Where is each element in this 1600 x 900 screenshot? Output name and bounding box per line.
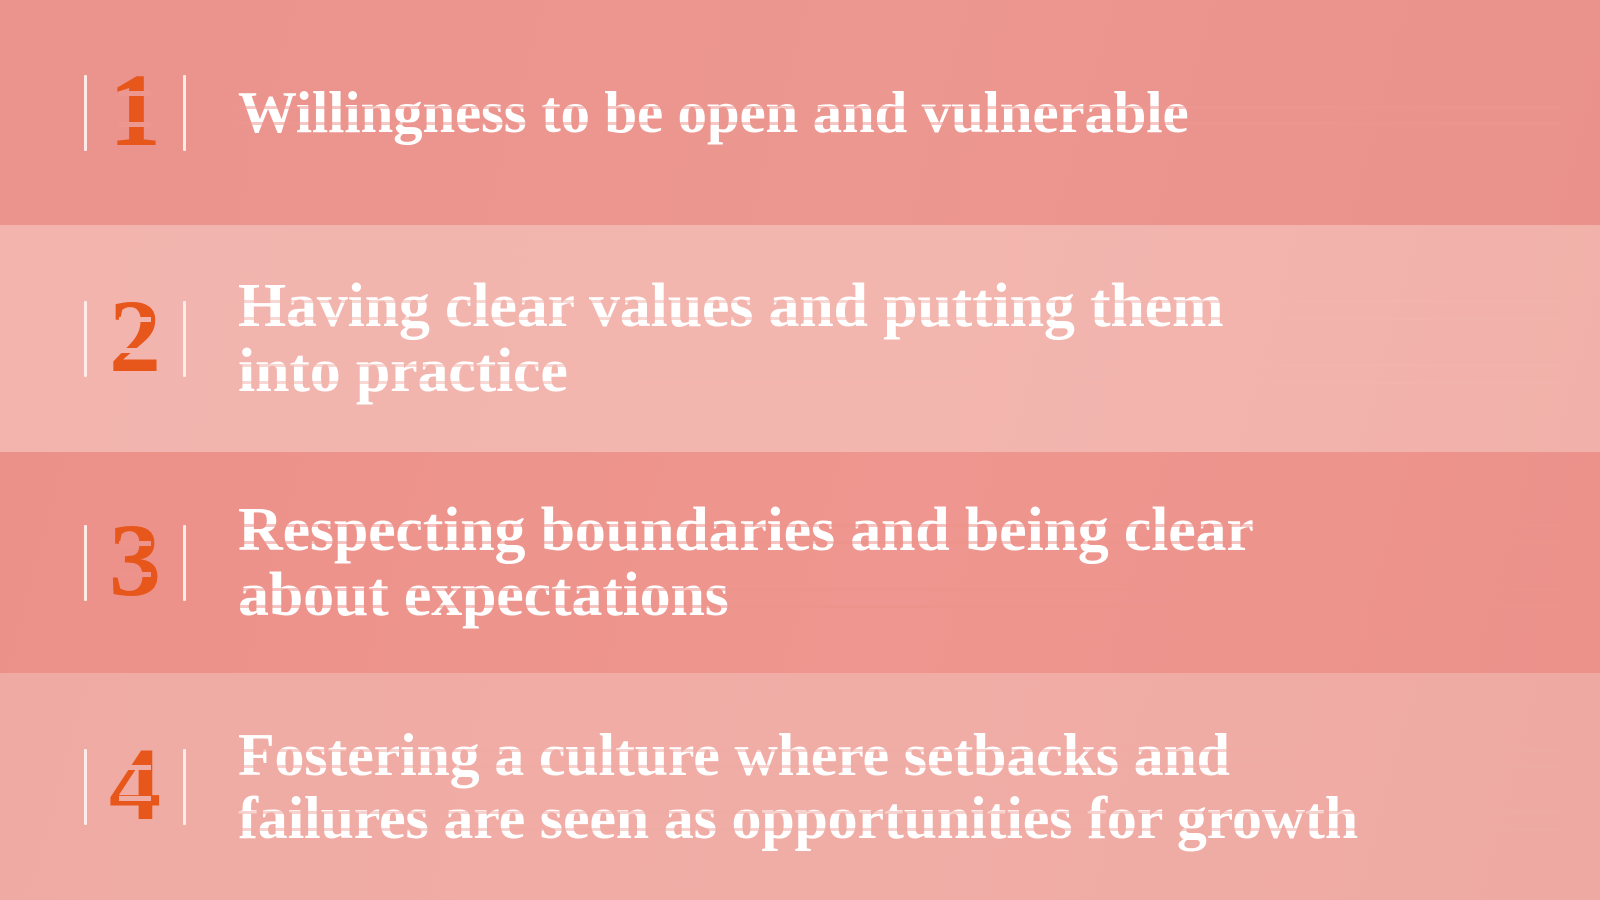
item-text: Respecting boundaries and being clear ab… [204,498,1600,627]
item-text-line: Having clear values and putting them [238,274,1560,338]
item-text-line: about expectations [238,563,1560,627]
item-number: 1 [87,63,183,159]
divider-rule-right [183,75,186,151]
list-item: 2 Having clear values and putting them i… [0,225,1600,452]
item-text: Having clear values and putting them int… [204,274,1600,403]
list-item: 4 Fostering a culture where setbacks and… [0,673,1600,900]
list-item: 3 Respecting boundaries and being clear … [0,452,1600,673]
divider-rule-right [183,749,186,825]
numbered-list-graphic: 1 Willingness to be open and vulnerable … [0,0,1600,900]
number-block: 4 [66,739,204,835]
item-text-line: Respecting boundaries and being clear [238,498,1560,562]
item-text: Willingness to be open and vulnerable [204,82,1600,143]
divider-rule-right [183,301,186,377]
item-text-line: into practice [238,339,1560,403]
number-block: 1 [66,65,204,161]
number-block: 3 [66,515,204,611]
divider-rule-right [183,525,186,601]
number-block: 2 [66,291,204,387]
list-item: 1 Willingness to be open and vulnerable [0,0,1600,225]
item-text: Fostering a culture where setbacks and f… [204,724,1600,849]
item-text-line: Willingness to be open and vulnerable [238,82,1560,143]
item-text-line: failures are seen as opportunities for g… [238,787,1560,849]
item-number: 2 [87,289,183,385]
item-number: 3 [87,513,183,609]
item-number: 4 [87,737,183,833]
item-text-line: Fostering a culture where setbacks and [238,724,1560,786]
